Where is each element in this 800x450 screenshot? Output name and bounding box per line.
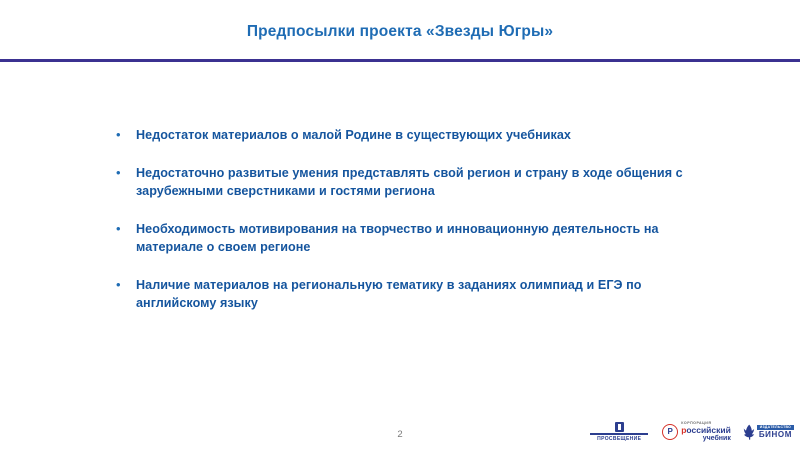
- rossiyskiy-uchebnik-wordmark: КОРПОРАЦИЯ российский учебник: [681, 422, 731, 442]
- rossiyskiy-uchebnik-line1-text: оссийский: [686, 425, 730, 435]
- prosveshchenie-mark-icon: [615, 422, 624, 432]
- rossiyskiy-uchebnik-line2: учебник: [681, 435, 731, 442]
- rossiyskiy-uchebnik-badge-icon: Р: [662, 424, 678, 440]
- bullet-text: Необходимость мотивирования на творчеств…: [136, 220, 722, 256]
- header-divider: [0, 59, 800, 62]
- rossiyskiy-uchebnik-line1: российский: [681, 426, 731, 435]
- prosveshchenie-rule: [590, 433, 648, 435]
- bullet-marker-icon: •: [112, 164, 136, 182]
- slide-header: Предпосылки проекта «Звезды Югры»: [0, 0, 800, 62]
- page-title: Предпосылки проекта «Звезды Югры»: [0, 23, 800, 41]
- binom-wordmark: ИЗДАТЕЛЬСТВО БИНОМ: [757, 425, 794, 440]
- bullet-marker-icon: •: [112, 276, 136, 294]
- list-item: • Наличие материалов на региональную тем…: [112, 276, 722, 312]
- binom-name: БИНОМ: [757, 430, 794, 440]
- bullet-text: Недостаточно развитые умения представлят…: [136, 164, 722, 200]
- bullet-list: • Недостаток материалов о малой Родине в…: [112, 126, 722, 312]
- list-item: • Недостаток материалов о малой Родине в…: [112, 126, 722, 144]
- list-item: • Необходимость мотивирования на творчес…: [112, 220, 722, 256]
- rossiyskiy-uchebnik-logo: Р КОРПОРАЦИЯ российский учебник: [662, 422, 731, 442]
- rossiyskiy-uchebnik-badge-letter: Р: [668, 428, 673, 436]
- prosveshchenie-wordmark: ПРОСВЕЩЕНИЕ: [597, 436, 641, 442]
- binom-bird-icon: [743, 424, 755, 440]
- bullet-text: Недостаток материалов о малой Родине в с…: [136, 126, 722, 144]
- prosveshchenie-logo: ПРОСВЕЩЕНИЕ: [588, 422, 650, 443]
- binom-logo: ИЗДАТЕЛЬСТВО БИНОМ: [743, 424, 794, 440]
- list-item: • Недостаточно развитые умения представл…: [112, 164, 722, 200]
- slide: Предпосылки проекта «Звезды Югры» • Недо…: [0, 0, 800, 450]
- publisher-logo-bar: ПРОСВЕЩЕНИЕ Р КОРПОРАЦИЯ российский учеб…: [588, 419, 794, 445]
- bullet-marker-icon: •: [112, 126, 136, 144]
- bullet-text: Наличие материалов на региональную темат…: [136, 276, 722, 312]
- bullet-marker-icon: •: [112, 220, 136, 238]
